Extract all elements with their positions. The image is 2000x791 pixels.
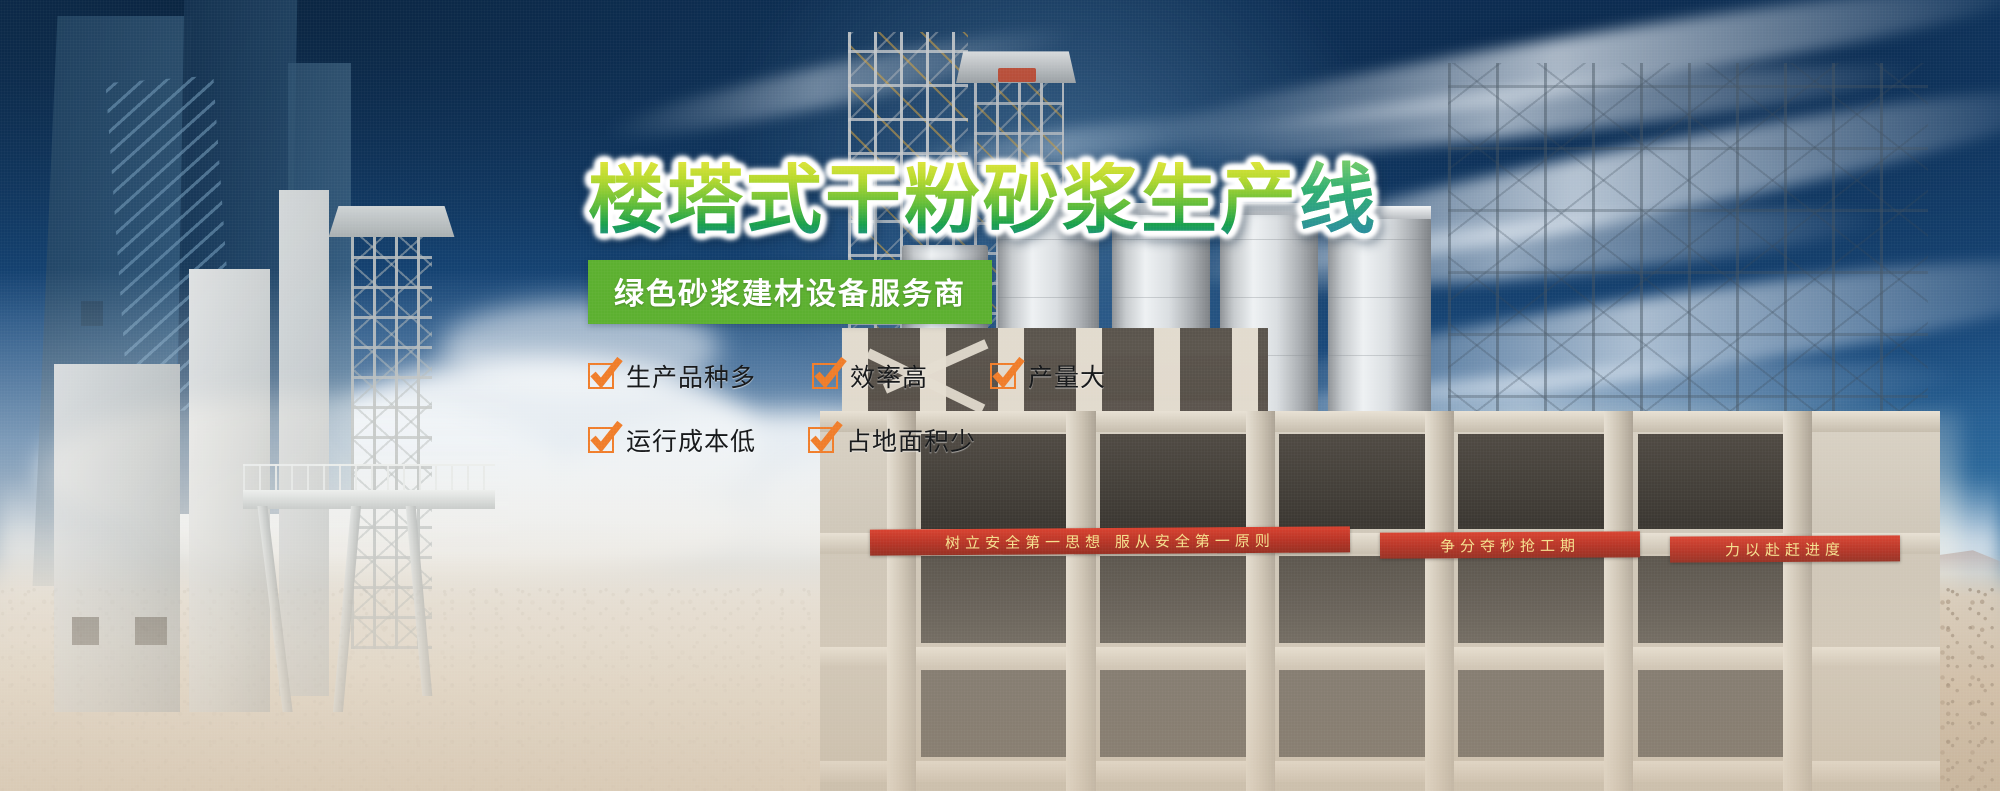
building-window	[72, 617, 99, 645]
feature-row: 运行成本低 占地面积少	[588, 422, 1508, 458]
building-bay	[1279, 556, 1425, 643]
banner-headline: 楼塔式干粉砂浆生产线	[588, 162, 1508, 238]
feature-item: 占地面积少	[808, 422, 976, 458]
building-bay	[1279, 670, 1425, 757]
feature-item: 运行成本低	[588, 422, 756, 458]
site-schedule-banner: 争分夺秒抢工期	[1380, 532, 1640, 559]
promo-banner: 树立安全第一思想 服从安全第一原则 争分夺秒抢工期 力以赴赶进度 楼塔式干粉砂浆…	[0, 0, 2000, 791]
platform-deck	[243, 490, 495, 509]
building-bay	[1458, 556, 1604, 643]
checkbox-checked-icon	[588, 427, 614, 453]
feature-item: 效率高	[812, 358, 928, 394]
plant-silo-left	[54, 364, 180, 712]
plant-duct-left	[279, 190, 329, 696]
feature-item: 生产品种多	[588, 358, 756, 394]
feature-label: 占地面积少	[846, 422, 976, 458]
platform-railing	[243, 464, 495, 492]
feature-label: 效率高	[850, 358, 928, 394]
headline-tail: 线	[1299, 155, 1378, 244]
site-progress-banner: 力以赴赶进度	[1670, 535, 1900, 562]
checkbox-checked-icon	[588, 363, 614, 389]
feature-label: 生产品种多	[626, 358, 756, 394]
banner-copy-block: 楼塔式干粉砂浆生产线 绿色砂浆建材设备服务商 生产品种多 效率高	[588, 162, 1508, 486]
feature-label: 运行成本低	[626, 422, 756, 458]
checkbox-checked-icon	[808, 427, 834, 453]
feature-label: 产量大	[1028, 358, 1106, 394]
checkbox-checked-icon	[812, 363, 838, 389]
feature-row: 生产品种多 效率高 产量大	[588, 358, 1508, 394]
building-window	[135, 617, 167, 645]
headline-main: 楼塔式干粉砂浆生产	[588, 155, 1299, 244]
banner-subtitle-bar: 绿色砂浆建材设备服务商	[588, 260, 992, 324]
building-bay	[921, 670, 1067, 757]
building-column	[1604, 411, 1633, 791]
building-bay	[1100, 556, 1246, 643]
building-bay	[1638, 556, 1784, 643]
floor-beam	[820, 647, 1940, 668]
feature-list: 生产品种多 效率高 产量大	[588, 358, 1508, 458]
building-bay	[1458, 670, 1604, 757]
building-bay	[1638, 434, 1784, 529]
checkbox-checked-icon	[990, 363, 1016, 389]
building-bay	[1100, 670, 1246, 757]
building-bay	[921, 556, 1067, 643]
building-bay	[1638, 670, 1784, 757]
site-safety-banner: 树立安全第一思想 服从安全第一原则	[870, 526, 1350, 555]
floor-beam	[820, 761, 1940, 782]
tower-red-housing	[998, 68, 1036, 82]
feature-item: 产量大	[990, 358, 1106, 394]
lattice-tower-cap	[329, 206, 455, 238]
building-column	[1783, 411, 1812, 791]
